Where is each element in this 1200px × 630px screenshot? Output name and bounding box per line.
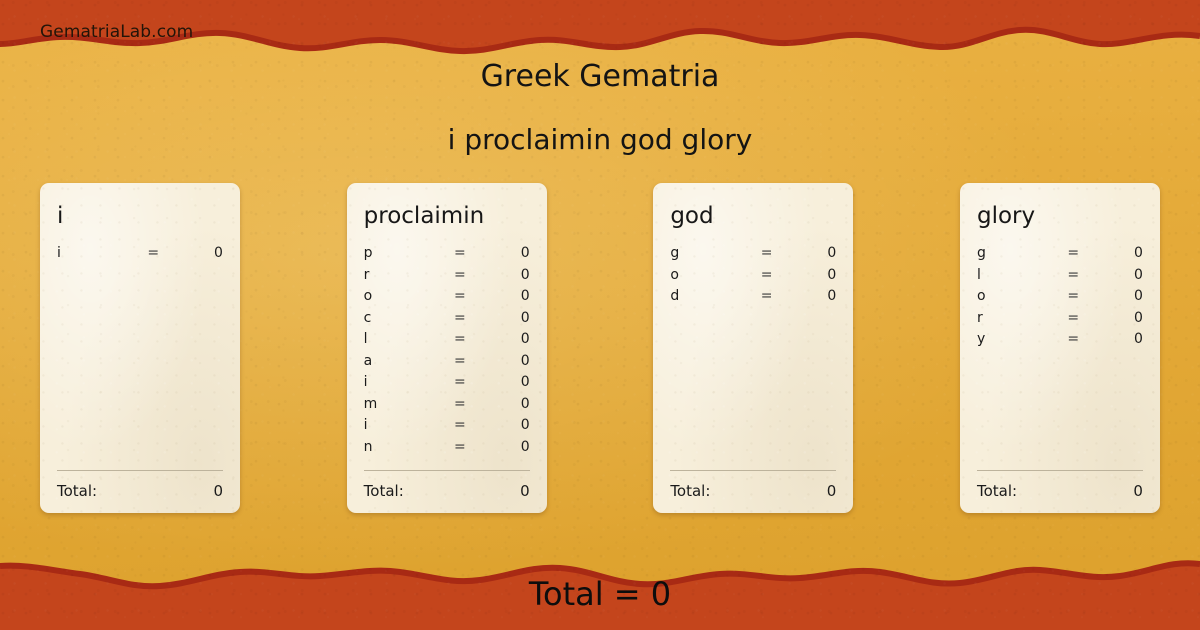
card-total-value: 0 (520, 482, 530, 500)
letter-row: l = 0 (364, 331, 530, 353)
letter: a (364, 353, 437, 369)
letter-row: m = 0 (364, 396, 530, 418)
card-divider (670, 470, 836, 471)
word-cards-container: i i = 0 Total: 0 proclaimin p = (40, 183, 1160, 513)
word-card: proclaimin p = 0 r = 0 o = 0 c (347, 183, 547, 513)
site-watermark: GematriaLab.com (40, 22, 193, 42)
letter-row: g = 0 (977, 245, 1143, 267)
letter-row: y = 0 (977, 331, 1143, 353)
letter-value: 0 (790, 267, 836, 283)
letter: o (364, 288, 437, 304)
phrase-subtitle: i proclaimin god glory (0, 123, 1200, 156)
letter: l (364, 331, 437, 347)
letter-row: i = 0 (57, 245, 223, 267)
letter-row: n = 0 (364, 439, 530, 461)
equals-sign: = (437, 331, 483, 347)
letter-row: i = 0 (364, 417, 530, 439)
card-total-row: Total: 0 (57, 482, 223, 500)
letter-value: 0 (483, 267, 529, 283)
letter-row: p = 0 (364, 245, 530, 267)
letter-value: 0 (177, 245, 223, 261)
equals-sign: = (437, 439, 483, 455)
equals-sign: = (437, 353, 483, 369)
letter: i (364, 374, 437, 390)
letter: g (977, 245, 1050, 261)
letter: r (977, 310, 1050, 326)
card-total-label: Total: (670, 482, 710, 500)
letter-value: 0 (483, 288, 529, 304)
letter: m (364, 396, 437, 412)
letter-value: 0 (1096, 310, 1142, 326)
letter-value: 0 (483, 374, 529, 390)
letter: d (670, 288, 743, 304)
letter-value: 0 (483, 331, 529, 347)
card-word-title: i (57, 183, 223, 228)
letter-row: c = 0 (364, 310, 530, 332)
card-total-row: Total: 0 (977, 482, 1143, 500)
card-word-title: glory (977, 183, 1143, 228)
letter-row: a = 0 (364, 353, 530, 375)
card-word-title: proclaimin (364, 183, 530, 228)
equals-sign: = (437, 396, 483, 412)
equals-sign: = (437, 310, 483, 326)
equals-sign: = (1050, 288, 1096, 304)
letter-value: 0 (483, 353, 529, 369)
letter: i (57, 245, 130, 261)
letter: y (977, 331, 1050, 347)
card-total-row: Total: 0 (364, 482, 530, 500)
card-texture (653, 183, 853, 513)
letter-rows: g = 0 o = 0 d = 0 (670, 245, 836, 310)
equals-sign: = (130, 245, 176, 261)
letter: g (670, 245, 743, 261)
word-card: god g = 0 o = 0 d = 0 (653, 183, 853, 513)
letter-value: 0 (483, 396, 529, 412)
letter-row: g = 0 (670, 245, 836, 267)
card-divider (364, 470, 530, 471)
gematria-result-card: GematriaLab.com Greek Gematria i proclai… (0, 0, 1200, 630)
card-divider (57, 470, 223, 471)
equals-sign: = (1050, 245, 1096, 261)
letter: o (670, 267, 743, 283)
card-total-label: Total: (364, 482, 404, 500)
letter-value: 0 (483, 310, 529, 326)
letter: n (364, 439, 437, 455)
word-card: i i = 0 Total: 0 (40, 183, 240, 513)
card-texture (40, 183, 240, 513)
card-word-title: god (670, 183, 836, 228)
card-total-value: 0 (827, 482, 837, 500)
equals-sign: = (743, 288, 789, 304)
letter-value: 0 (483, 417, 529, 433)
equals-sign: = (1050, 310, 1096, 326)
letter-value: 0 (1096, 267, 1142, 283)
card-total-row: Total: 0 (670, 482, 836, 500)
letter-value: 0 (790, 288, 836, 304)
equals-sign: = (437, 267, 483, 283)
letter: r (364, 267, 437, 283)
grand-total: Total = 0 (0, 575, 1200, 613)
letter-row: o = 0 (977, 288, 1143, 310)
letter: i (364, 417, 437, 433)
letter-rows: g = 0 l = 0 o = 0 r = 0 (977, 245, 1143, 353)
letter-rows: i = 0 (57, 245, 223, 267)
card-divider (977, 470, 1143, 471)
page-title: Greek Gematria (0, 59, 1200, 94)
letter: l (977, 267, 1050, 283)
equals-sign: = (1050, 267, 1096, 283)
equals-sign: = (437, 417, 483, 433)
equals-sign: = (1050, 331, 1096, 347)
card-total-label: Total: (977, 482, 1017, 500)
letter-rows: p = 0 r = 0 o = 0 c = 0 (364, 245, 530, 460)
word-card: glory g = 0 l = 0 o = 0 r (960, 183, 1160, 513)
letter-value: 0 (1096, 331, 1142, 347)
letter-row: o = 0 (364, 288, 530, 310)
letter-value: 0 (1096, 288, 1142, 304)
letter-row: r = 0 (977, 310, 1143, 332)
letter-row: r = 0 (364, 267, 530, 289)
equals-sign: = (437, 288, 483, 304)
equals-sign: = (437, 374, 483, 390)
letter-row: d = 0 (670, 288, 836, 310)
equals-sign: = (743, 267, 789, 283)
letter-value: 0 (1096, 245, 1142, 261)
letter-row: o = 0 (670, 267, 836, 289)
letter-row: i = 0 (364, 374, 530, 396)
card-total-label: Total: (57, 482, 97, 500)
letter-row: l = 0 (977, 267, 1143, 289)
letter: o (977, 288, 1050, 304)
card-total-value: 0 (213, 482, 223, 500)
equals-sign: = (437, 245, 483, 261)
letter: c (364, 310, 437, 326)
equals-sign: = (743, 245, 789, 261)
letter: p (364, 245, 437, 261)
letter-value: 0 (483, 439, 529, 455)
letter-value: 0 (790, 245, 836, 261)
card-total-value: 0 (1133, 482, 1143, 500)
letter-value: 0 (483, 245, 529, 261)
